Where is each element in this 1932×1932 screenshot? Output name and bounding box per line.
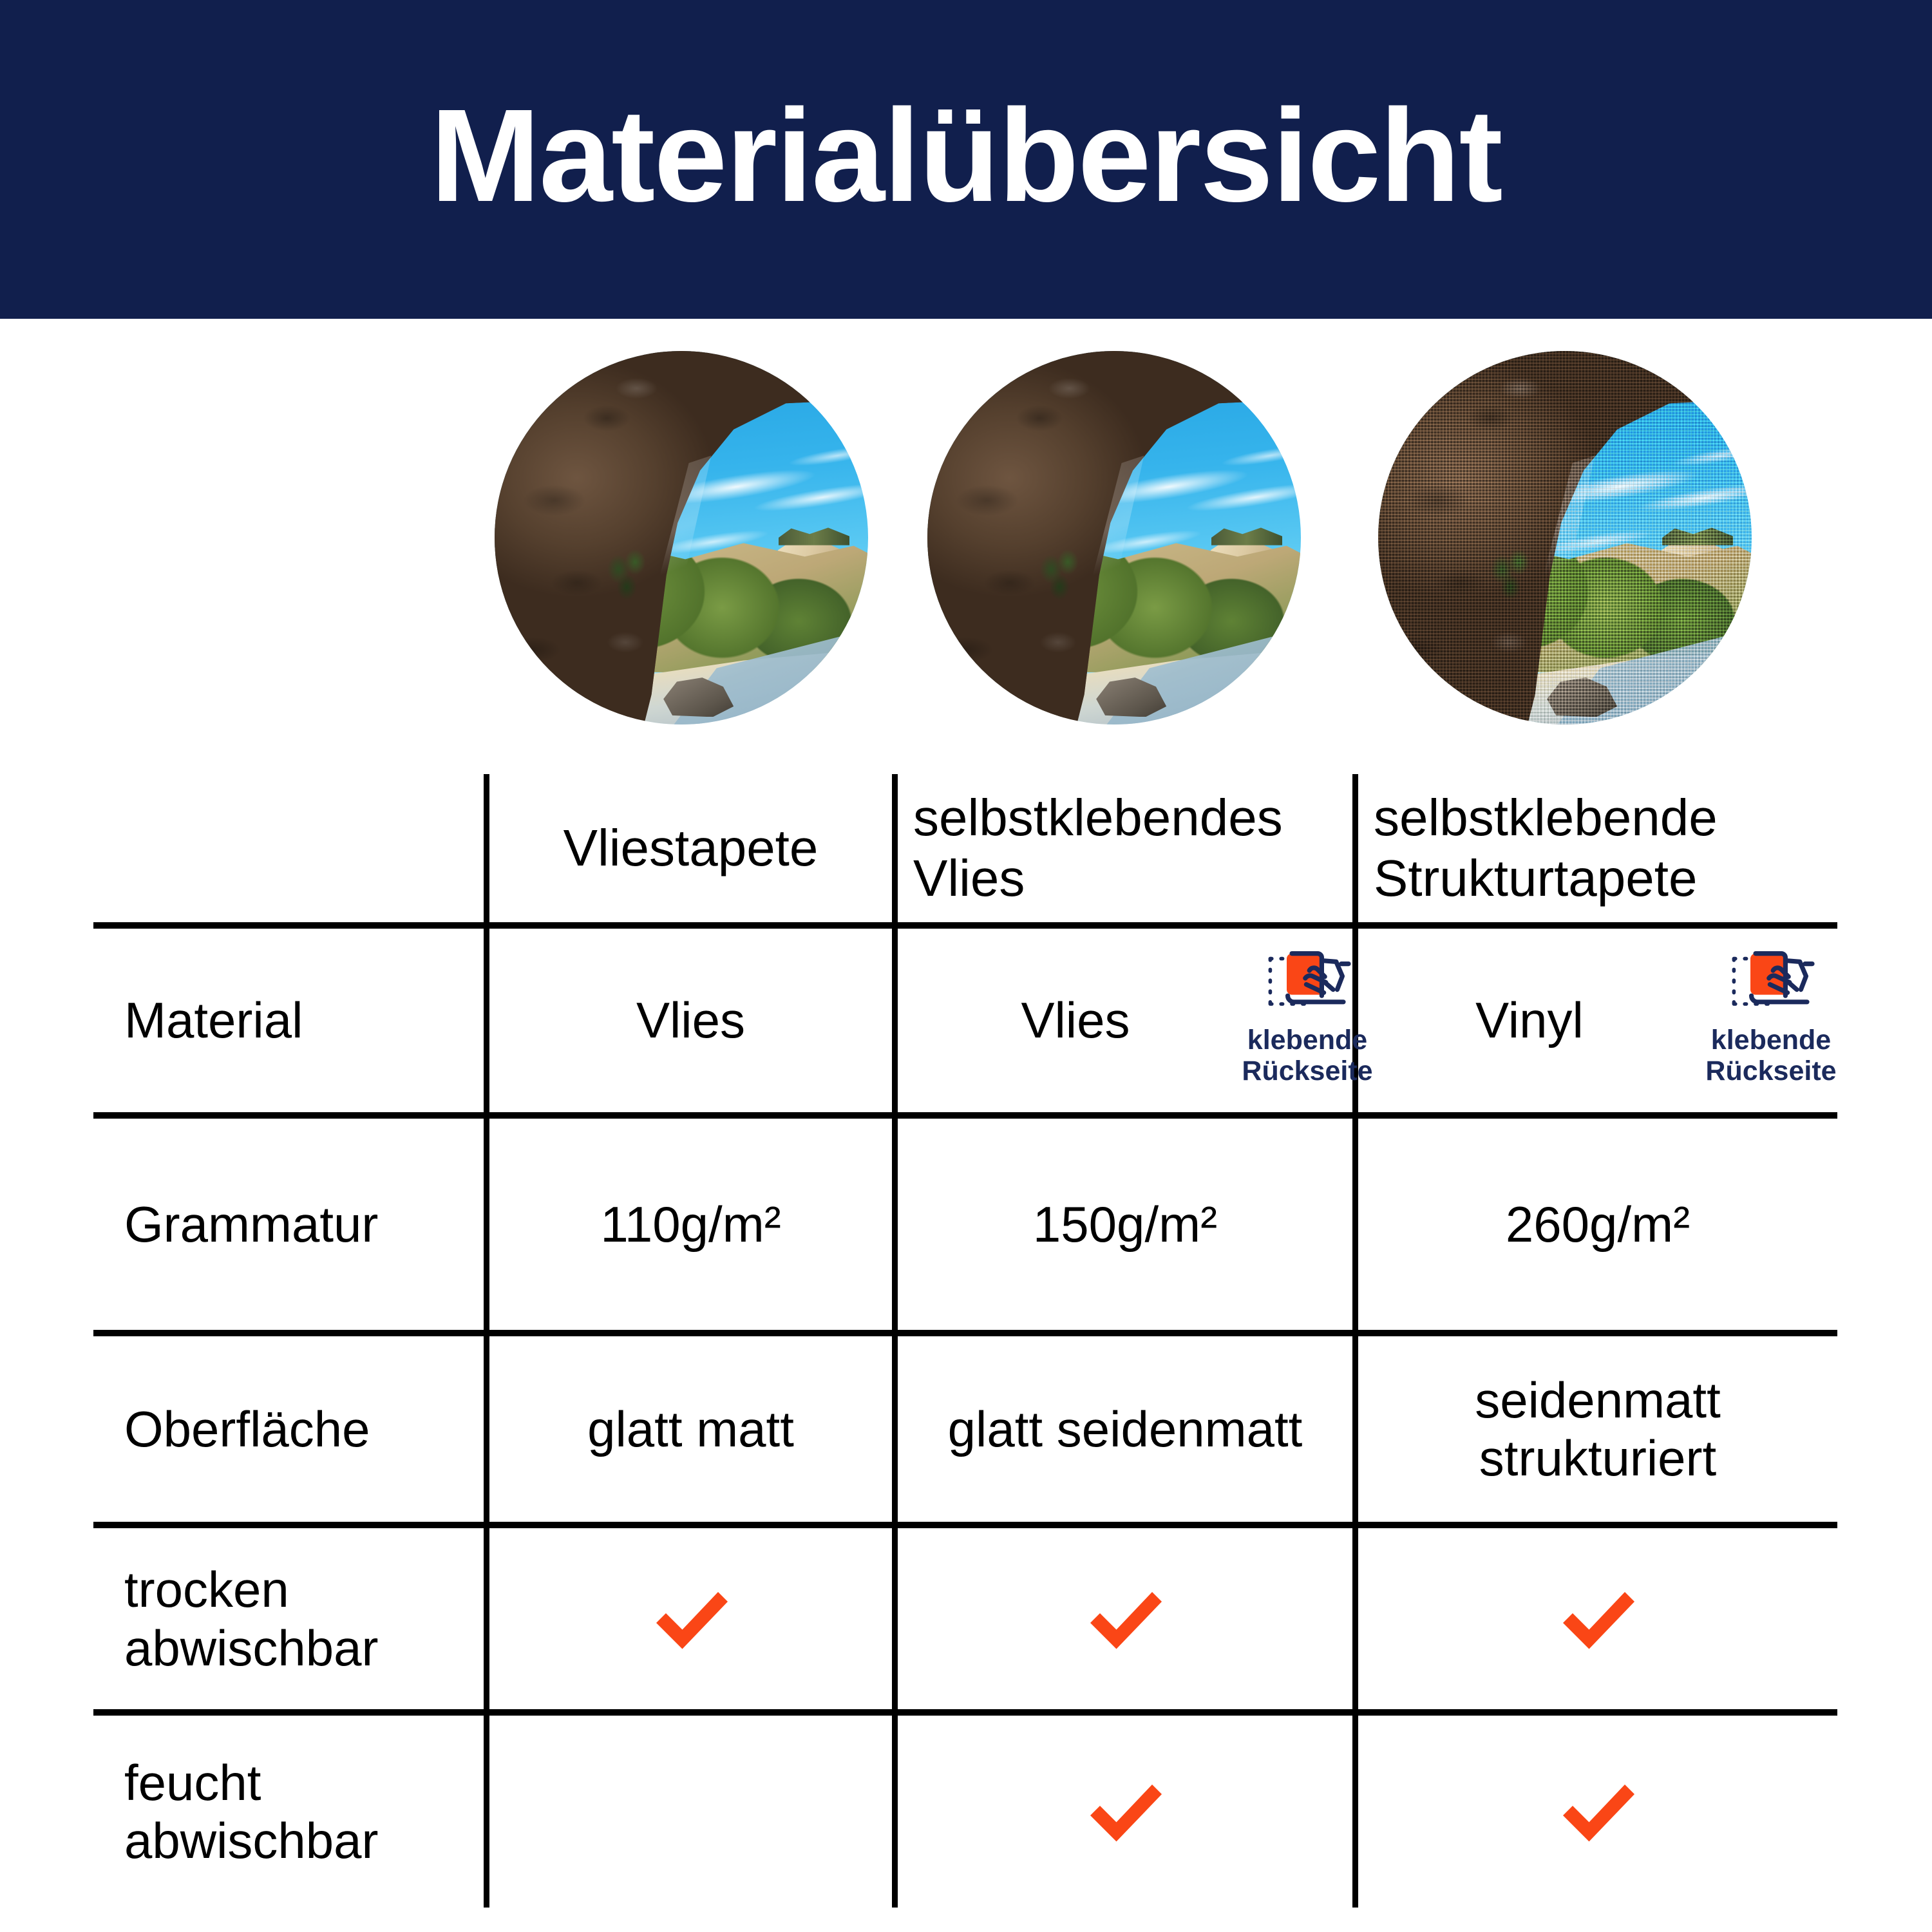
adhesive-back-badge-column-3: klebende Rückseite bbox=[1690, 942, 1851, 1086]
cell-grammatur-selbstklebende-strukturtapete: 260g/m² bbox=[1358, 1119, 1837, 1330]
row-divider-oberflaeche bbox=[93, 1522, 1837, 1528]
cell-feucht-vliestapete bbox=[489, 1716, 892, 1908]
cell-feucht-selbstklebendes-vlies bbox=[898, 1716, 1352, 1908]
row-divider-trocken bbox=[93, 1709, 1837, 1716]
checkmark-icon bbox=[1077, 1571, 1173, 1667]
cell-feucht-selbstklebende-strukturtapete bbox=[1358, 1716, 1837, 1908]
column-header-vliestapete: Vliestapete bbox=[489, 774, 892, 922]
cell-material-vliestapete: Vlies bbox=[489, 929, 892, 1112]
cell-trocken-selbstklebende-strukturtapete bbox=[1358, 1528, 1837, 1709]
checkmark-icon bbox=[643, 1571, 739, 1667]
adhesive-back-badge-line1: klebende bbox=[1711, 1025, 1831, 1056]
checkmark-icon bbox=[1077, 1763, 1173, 1860]
checkmark-icon bbox=[1549, 1571, 1646, 1667]
column-divider-2 bbox=[892, 774, 898, 1908]
column-header-selbstklebende-strukturtapete: selbstklebende Strukturtapete bbox=[1362, 774, 1850, 922]
adhesive-back-badge-line2: Rückseite bbox=[1705, 1056, 1836, 1086]
cell-grammatur-vliestapete: 110g/m² bbox=[489, 1119, 892, 1330]
row-label-feucht-abwischbar: feucht abwischbar bbox=[93, 1716, 511, 1908]
cell-oberflaeche-selbstklebendes-vlies: glatt seidenmatt bbox=[898, 1336, 1352, 1522]
cell-material-selbstklebende-strukturtapete: Vinyl bbox=[1362, 929, 1697, 1112]
cell-trocken-vliestapete bbox=[489, 1528, 892, 1709]
adhesive-back-peel-icon bbox=[1719, 942, 1823, 1019]
row-label-grammatur: Grammatur bbox=[93, 1119, 511, 1330]
row-label-material: Material bbox=[93, 929, 511, 1112]
adhesive-back-badge-column-2: klebende Rückseite bbox=[1227, 942, 1388, 1086]
material-comparison-table: Vliestapete selbstklebendes Vlies selbst… bbox=[0, 0, 1932, 1932]
row-divider-header bbox=[93, 922, 1837, 929]
row-divider-material bbox=[93, 1112, 1837, 1119]
cell-trocken-selbstklebendes-vlies bbox=[898, 1528, 1352, 1709]
adhesive-back-badge-line2: Rückseite bbox=[1242, 1056, 1372, 1086]
row-divider-grammatur bbox=[93, 1330, 1837, 1336]
row-label-trocken-abwischbar: trocken abwischbar bbox=[93, 1528, 511, 1709]
adhesive-back-badge-line1: klebende bbox=[1247, 1025, 1367, 1056]
cell-oberflaeche-vliestapete: glatt matt bbox=[489, 1336, 892, 1522]
cell-grammatur-selbstklebendes-vlies: 150g/m² bbox=[898, 1119, 1352, 1330]
cell-oberflaeche-selbstklebende-strukturtapete: seidenmatt strukturiert bbox=[1358, 1336, 1837, 1522]
adhesive-back-peel-icon bbox=[1256, 942, 1359, 1019]
row-label-oberflaeche: Oberfläche bbox=[93, 1336, 511, 1522]
checkmark-icon bbox=[1549, 1763, 1646, 1860]
column-header-selbstklebendes-vlies: selbstklebendes Vlies bbox=[902, 774, 1364, 922]
cell-material-selbstklebendes-vlies: Vlies bbox=[902, 929, 1249, 1112]
